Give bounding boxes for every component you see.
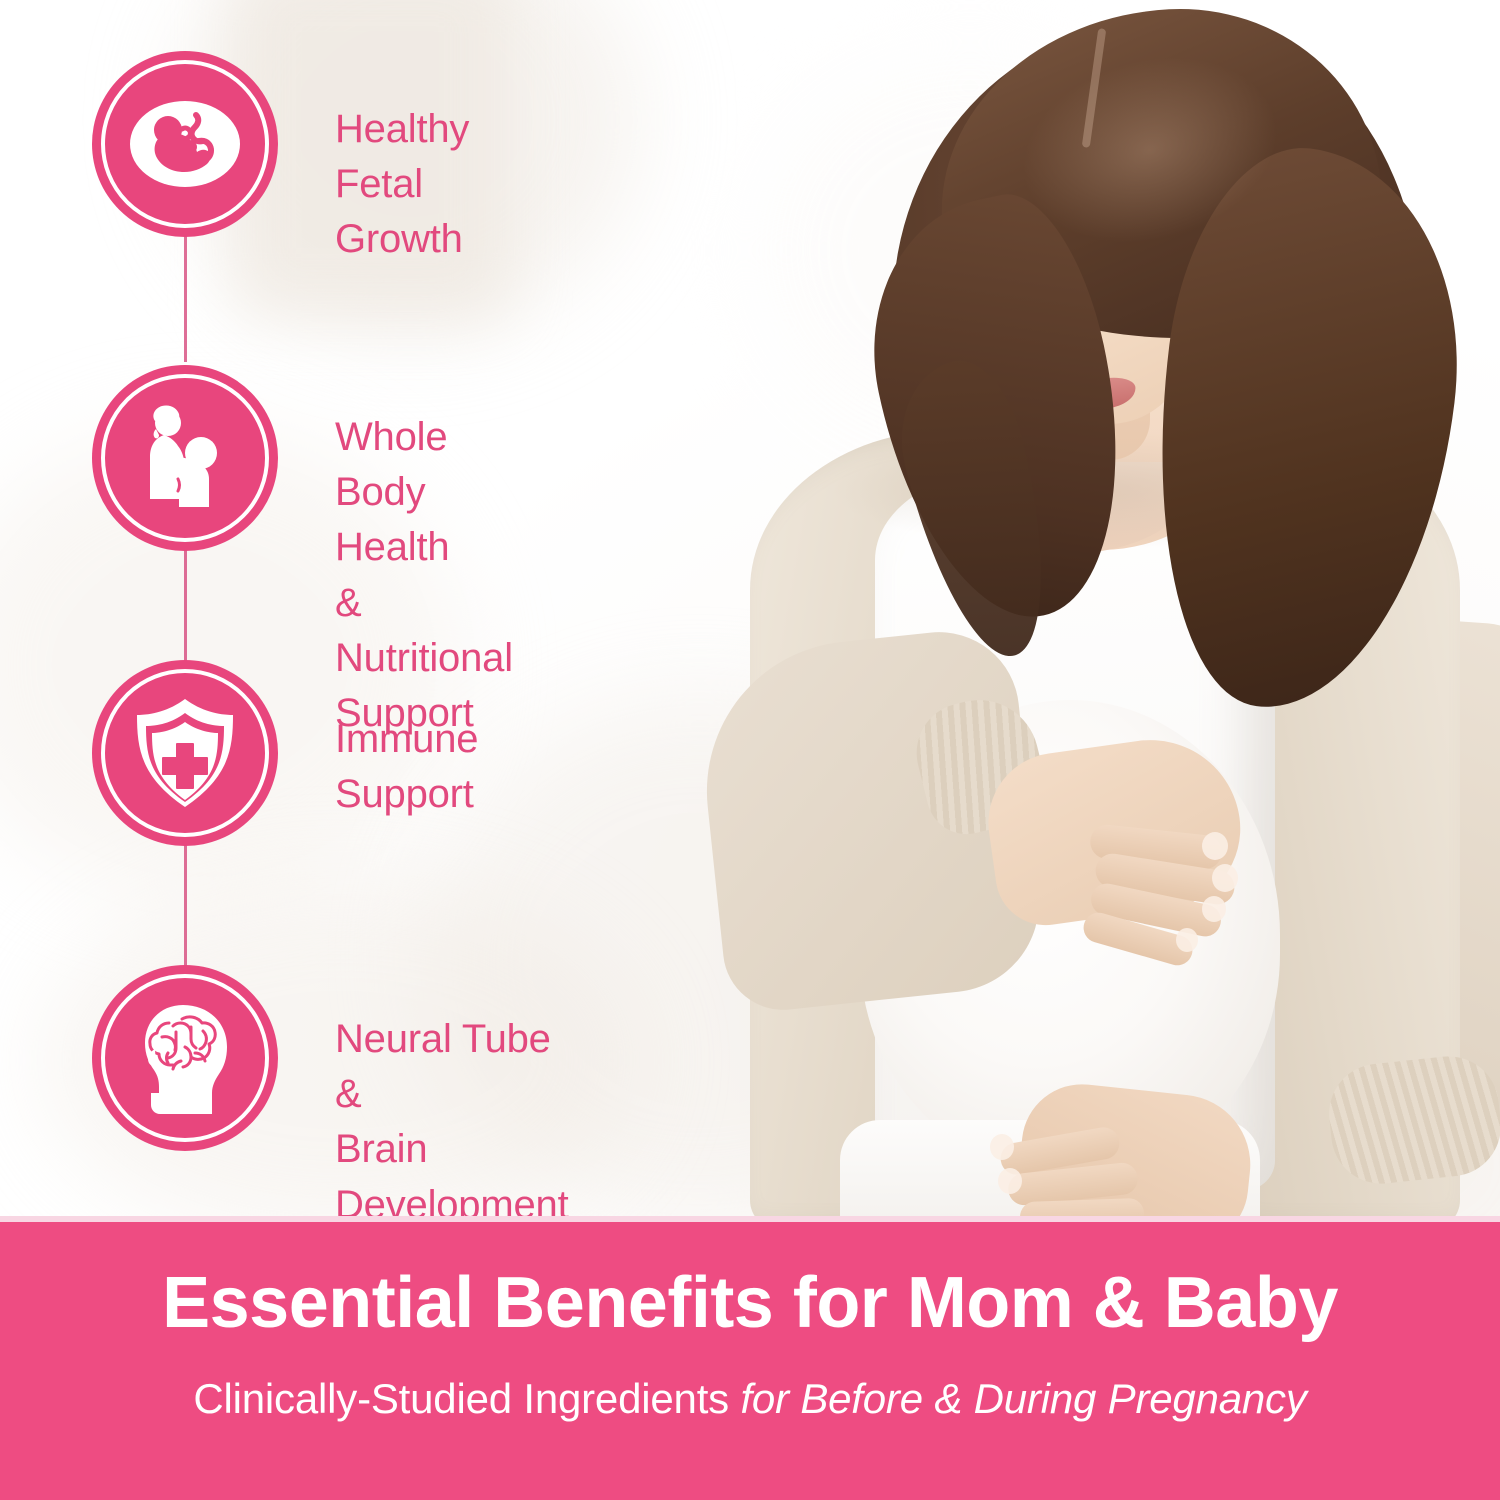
product-benefits-infographic: Healthy Fetal Growth W: [0, 0, 1500, 1500]
shield-cross-icon: [92, 660, 278, 846]
benefit-label-fetal-growth: Healthy Fetal Growth: [335, 102, 469, 268]
banner-title: Essential Benefits for Mom & Baby: [0, 1266, 1500, 1342]
head-brain-icon: [92, 965, 278, 1151]
connector-line-2: [184, 548, 187, 666]
benefits-list: Healthy Fetal Growth W: [0, 0, 820, 1222]
connector-line-3: [184, 842, 187, 970]
bottom-banner: Essential Benefits for Mom & Baby Clinic…: [0, 1222, 1500, 1500]
fetus-icon: [92, 51, 278, 237]
connector-line-1: [184, 230, 187, 362]
benefit-label-neural-tube: Neural Tube & Brain Development: [335, 1012, 568, 1233]
banner-subtitle: Clinically-Studied Ingredients for Befor…: [0, 1376, 1500, 1422]
benefit-label-whole-body-health: Whole Body Health & Nutritional Support: [335, 410, 513, 741]
benefit-label-immune-support: Immune Support: [335, 712, 478, 822]
mother-holding-baby-icon: [92, 365, 278, 551]
banner-subtitle-plain: Clinically-Studied Ingredients: [193, 1375, 740, 1422]
banner-subtitle-italic: for Before & During Pregnancy: [740, 1375, 1306, 1422]
